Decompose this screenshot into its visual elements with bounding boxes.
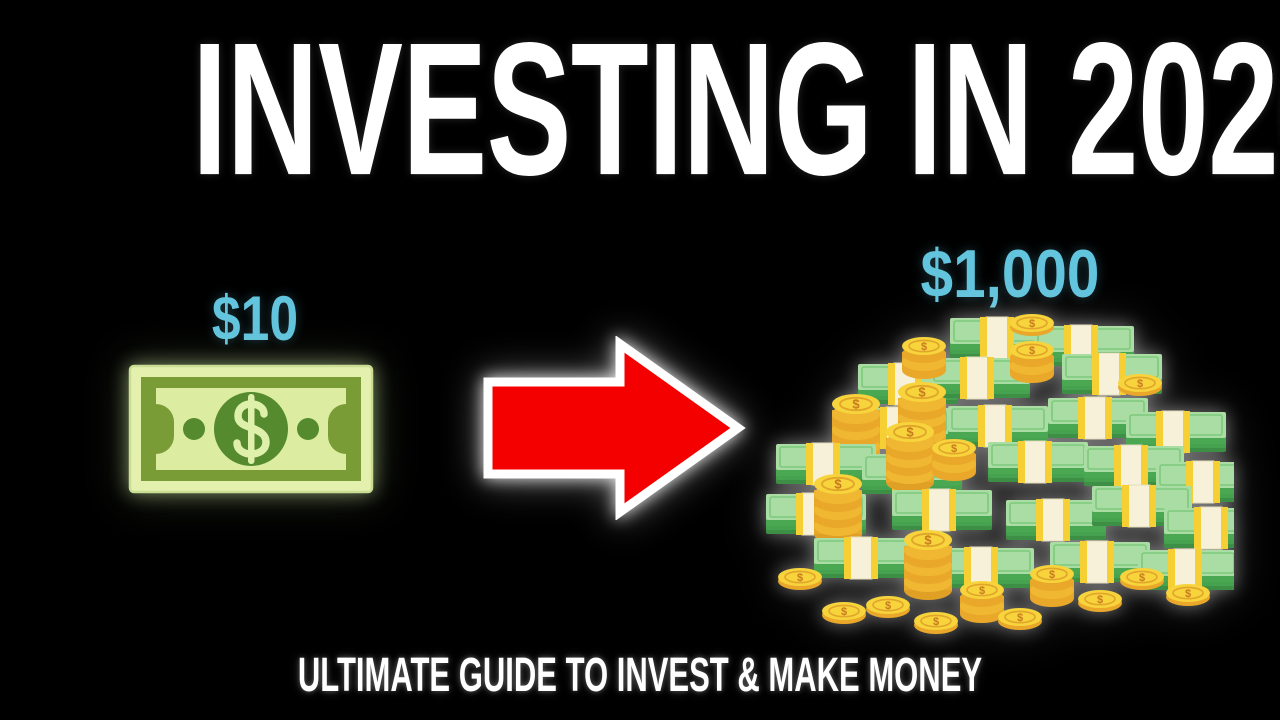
right-arrow-icon: [478, 336, 748, 520]
thumbnail-canvas: INVESTING IN 2026 $10: [0, 0, 1280, 720]
subtitle-text: ULTIMATE GUIDE TO INVEST & MAKE MONEY: [218, 650, 1063, 698]
page-title: INVESTING IN 2026: [192, 14, 1088, 203]
dollar-banknote-icon: [128, 364, 374, 494]
money-pile-icon: $ $: [762, 312, 1234, 656]
after-amount-label: $1,000: [868, 240, 1152, 308]
before-amount-label: $10: [144, 288, 365, 351]
